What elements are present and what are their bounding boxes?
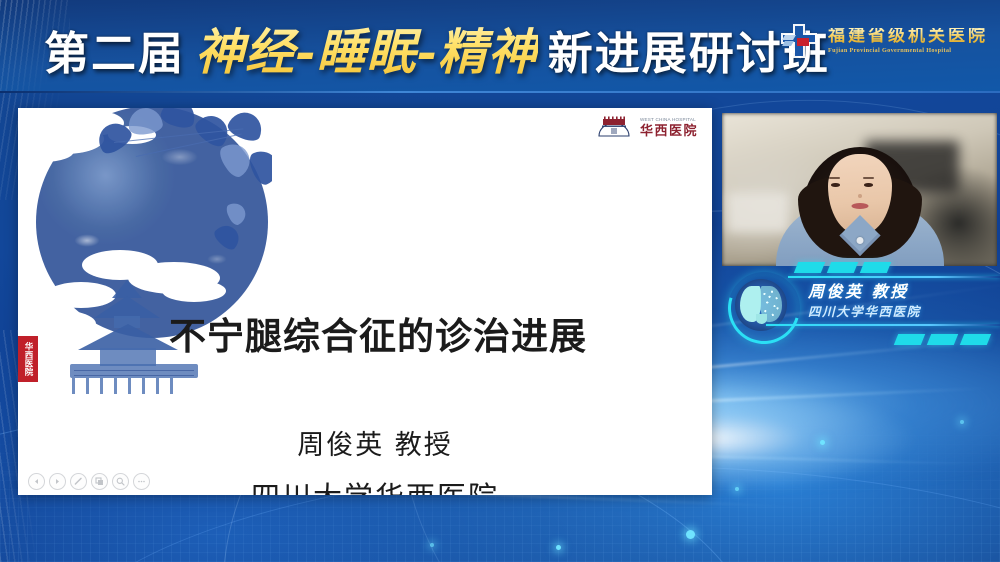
name-tag-name: 周俊英 教授 (808, 278, 909, 302)
ginkgo-leaf (127, 108, 164, 136)
west-china-hospital-watermark: WEST CHINA HOSPITAL 华西医院 (595, 116, 698, 140)
pagoda-baluster (100, 378, 103, 394)
event-title: 第二届 神经-睡眠-精神 新进展研讨班 (44, 13, 830, 84)
event-header-banner: 第二届 神经-睡眠-精神 新进展研讨班 福建省级机关医院 Fujian (0, 0, 1000, 93)
pagoda-baluster (128, 378, 131, 394)
decorative-dash (827, 262, 858, 273)
zoom-search-button[interactable] (112, 473, 129, 490)
decorative-line (766, 324, 1000, 326)
pagoda-baluster (156, 378, 159, 394)
network-node (820, 440, 825, 445)
ginkgo-leaf (225, 108, 266, 144)
hospital-name-cn: 福建省级机关医院 (828, 28, 988, 45)
ginkgo-leaf (246, 146, 272, 188)
ginkgo-leaf-cluster (96, 108, 272, 194)
decorative-dash (927, 334, 958, 345)
decorative-dash (794, 262, 825, 273)
speaker-eye (864, 183, 873, 186)
brain-stem (756, 314, 767, 324)
west-china-name-en: WEST CHINA HOSPITAL (640, 118, 698, 123)
medical-cross-icon (779, 22, 819, 60)
slide-toolbar[interactable] (28, 473, 150, 490)
pagoda-baluster (170, 378, 173, 394)
hospital-logo-text: 福建省级机关医院 Fujian Provincial Governmental … (828, 28, 988, 54)
pagoda-baluster (72, 378, 75, 394)
name-tag-affiliation: 四川大学华西医院 (808, 301, 921, 320)
network-node (430, 543, 434, 547)
brain-icon (740, 284, 782, 324)
hospital-logo: 福建省级机关医院 Fujian Provincial Governmental … (779, 22, 988, 60)
pagoda-detail-line (74, 375, 194, 376)
decorative-dash (894, 334, 925, 345)
decorative-dash (960, 334, 991, 345)
west-china-name-cn: 华西医院 (640, 125, 698, 138)
video-background-object (728, 193, 789, 233)
slide-presenter-name: 周俊英 教授 (18, 423, 712, 462)
pagoda-roof (112, 280, 142, 298)
event-title-part-1: 第二届 (44, 17, 185, 82)
ink-wash-artwork: 华西医院 (18, 108, 272, 434)
speaker-eye (831, 183, 840, 186)
network-node (960, 420, 964, 424)
network-node (735, 487, 739, 491)
previous-slide-button[interactable] (28, 473, 45, 490)
hospital-name-en: Fujian Provincial Governmental Hospital (828, 48, 988, 54)
annotate-pen-button[interactable] (70, 473, 87, 490)
west-china-logo-text: WEST CHINA HOSPITAL 华西医院 (640, 118, 698, 137)
decorative-dash (860, 262, 891, 273)
pagoda-detail-line (74, 370, 194, 371)
speaker-name-tag: 周俊英 教授 四川大学华西医院 (716, 262, 1000, 354)
play-button[interactable] (49, 473, 66, 490)
pagoda-baluster (114, 378, 117, 394)
more-options-button[interactable] (133, 473, 150, 490)
ginkgo-leaf (159, 108, 199, 131)
west-china-hospital-emblem (595, 116, 633, 140)
pagoda-baluster (86, 378, 89, 394)
network-node (556, 545, 561, 550)
presentation-slide[interactable]: 华西医院 WEST CHINA HOSPITAL (18, 108, 712, 495)
speaker-video-feed[interactable] (722, 113, 997, 266)
network-node (686, 530, 695, 539)
speaker-button-detail (856, 237, 863, 244)
broadcast-screen: 第二届 神经-睡眠-精神 新进展研讨班 福建省级机关医院 Fujian (0, 0, 1000, 562)
event-title-part-2: 神经-睡眠-精神 (195, 13, 538, 84)
duplicate-button[interactable] (91, 473, 108, 490)
slide-title: 不宁腿综合征的诊治进展 (18, 306, 712, 360)
speaker-mouth (851, 203, 868, 209)
pagoda-baluster (142, 378, 145, 394)
